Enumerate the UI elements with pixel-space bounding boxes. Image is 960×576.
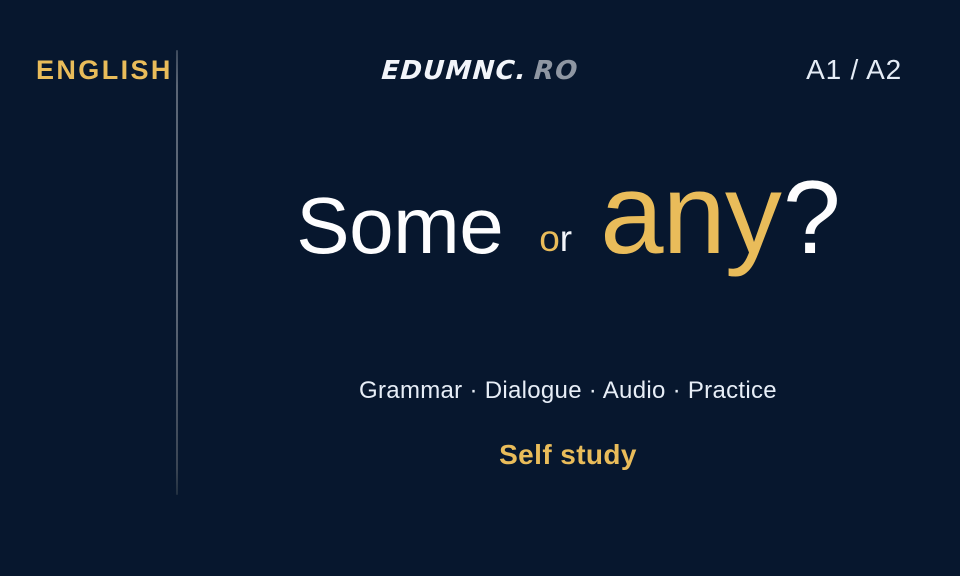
headline-question-mark: ?: [783, 166, 840, 270]
headline-conjunction-r: r: [560, 218, 572, 259]
headline-word-any: any: [600, 158, 781, 272]
page-title: Some or any?: [176, 158, 960, 308]
slide-canvas: ENGLISH EDUMNC.RO A1 / A2 Some or any? G…: [0, 0, 960, 576]
study-mode-label: Self study: [176, 441, 960, 469]
headline-conjunction-o: o: [539, 218, 560, 259]
feature-list: Grammar · Dialogue · Audio · Practice: [176, 379, 960, 403]
slide-main: Some or any? Grammar · Dialogue · Audio …: [176, 0, 960, 576]
headline-word-some: Some: [296, 186, 503, 266]
headline-conjunction: or: [539, 220, 572, 257]
